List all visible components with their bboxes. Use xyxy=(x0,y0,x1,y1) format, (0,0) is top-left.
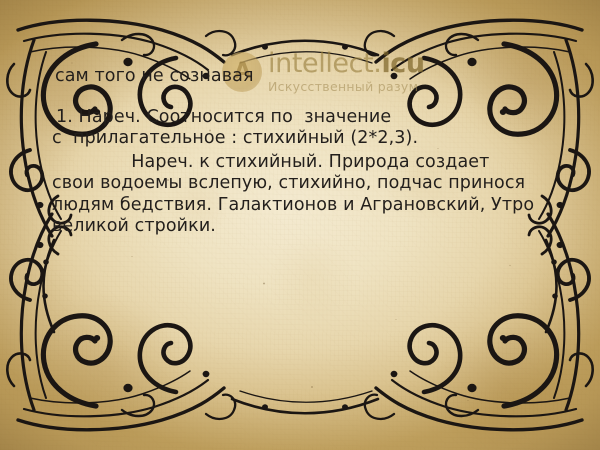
heading-text: сам того не сознавая xyxy=(55,66,254,87)
body-line-6: великой стройки. xyxy=(52,216,216,237)
page-content: сам того не сознавая 1. Нареч. Соотносит… xyxy=(0,0,600,450)
body-line-2: с прилагательное : стихийный (2*2,3). xyxy=(52,128,418,149)
body-line-5: людям бедствия. Галактионов и Аграновски… xyxy=(52,195,534,216)
body-line-1: 1. Нареч. Соотносится по значение xyxy=(56,107,391,128)
parchment-page: A intellect.icu Искусственный разум сам … xyxy=(0,0,600,450)
body-line-3: Нареч. к стихийный. Природа создает xyxy=(52,152,489,173)
body-line-4: свои водоемы вслепую, стихийно, подчас п… xyxy=(52,173,525,194)
